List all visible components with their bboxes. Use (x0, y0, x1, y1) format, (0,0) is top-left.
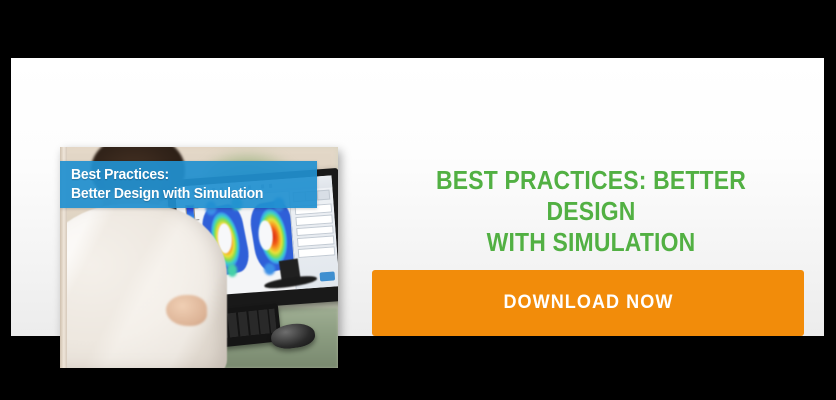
ebook-cover-image[interactable]: Best Practices: Better Design with Simul… (60, 147, 338, 368)
person-hand (166, 295, 208, 326)
cover-title-band: Best Practices: Better Design with Simul… (60, 161, 317, 208)
person-lab-coat (60, 204, 227, 368)
cover-title-line-1: Best Practices: (71, 166, 298, 185)
cover-title-line-2: Better Design with Simulation (71, 185, 298, 204)
panel-field (296, 224, 334, 236)
panel-ok-button (320, 271, 336, 281)
offer-headline: BEST PRACTICES: BETTER DESIGN WITH SIMUL… (389, 166, 794, 259)
panel-tab (317, 189, 331, 200)
panel-field (298, 246, 336, 258)
promo-card: Best Practices: Better Design with Simul… (11, 58, 824, 336)
cover-title-text: Best Practices: Better Design with Simul… (71, 166, 298, 203)
panel-field (295, 214, 333, 226)
download-now-label: DOWNLOAD NOW (503, 292, 673, 314)
panel-field (297, 235, 335, 247)
offer-headline-line-2: WITH SIMULATION (389, 228, 794, 259)
banner-canvas: Best Practices: Better Design with Simul… (0, 0, 836, 400)
download-now-button[interactable]: DOWNLOAD NOW (372, 270, 804, 336)
offer-headline-line-1: BEST PRACTICES: BETTER DESIGN (389, 166, 794, 228)
